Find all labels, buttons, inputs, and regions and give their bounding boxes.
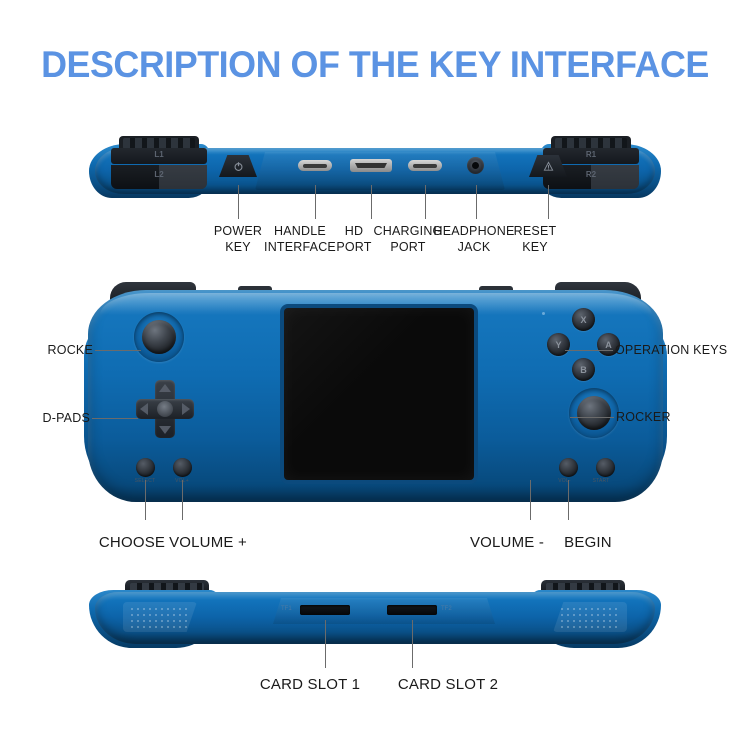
- label-handle-interface-line1: HANDLE: [274, 224, 326, 238]
- label-charging-port-line2: PORT: [390, 240, 425, 254]
- d-pad-up-icon[interactable]: [159, 384, 171, 392]
- leader-power-key: [238, 185, 239, 219]
- label-rocker-left: ROCKE: [48, 343, 93, 357]
- l1-label: L1: [154, 150, 163, 159]
- reset-icon: [543, 161, 554, 172]
- d-pad-center-hub: [157, 401, 173, 417]
- card-slot-1[interactable]: [300, 605, 350, 615]
- leader-begin: [568, 480, 569, 520]
- leader-d-pads: [92, 418, 138, 419]
- leader-rocker-right: [570, 417, 614, 418]
- bottom-edge-view: TF1 TF2: [95, 580, 655, 662]
- leader-card-slot-2: [412, 620, 413, 668]
- status-led: [542, 312, 545, 315]
- l2-label: L2: [154, 170, 163, 179]
- label-choose: CHOOSE: [99, 536, 165, 550]
- power-icon: [233, 161, 244, 172]
- leader-handle-interface: [315, 185, 316, 219]
- operation-keys-cluster[interactable]: X Y A B: [547, 308, 619, 380]
- label-card-slot-1: CARD SLOT 1: [260, 678, 360, 692]
- left-shoulder-cluster[interactable]: L1 L2: [111, 146, 207, 190]
- volume-down-button[interactable]: [559, 458, 578, 477]
- label-headphone-jack-line1: HEADPHONE: [434, 224, 515, 238]
- label-charging-port-line1: CHARGING: [374, 224, 443, 238]
- leader-choose: [145, 480, 146, 520]
- r1-label: R1: [586, 150, 596, 159]
- d-pad-left-icon[interactable]: [140, 403, 148, 415]
- left-rocker-stick[interactable]: [134, 312, 184, 362]
- d-pad[interactable]: [136, 380, 194, 438]
- leader-volume-down: [530, 480, 531, 520]
- charging-port[interactable]: [408, 160, 442, 171]
- card-slot-2[interactable]: [387, 605, 437, 615]
- leader-hd-port: [371, 185, 372, 219]
- label-card-slot-2: CARD SLOT 2: [398, 678, 498, 692]
- leader-card-slot-1: [325, 620, 326, 668]
- display-screen[interactable]: [284, 308, 474, 480]
- product-diagram: DESCRIPTION OF THE KEY INTERFACE L1 L2 R…: [0, 0, 750, 750]
- leader-reset-key: [548, 185, 549, 219]
- volume-up-button[interactable]: [173, 458, 192, 477]
- left-speaker-grille: [123, 602, 197, 632]
- start-button-label: START: [593, 478, 610, 484]
- top-edge-view: L1 L2 R1 R2: [95, 128, 655, 206]
- select-button[interactable]: [136, 458, 155, 477]
- button-y[interactable]: Y: [547, 333, 570, 356]
- r2-label: R2: [586, 170, 596, 179]
- label-handle-interface-line2: INTERFACE: [264, 240, 336, 254]
- card-slot-1-tag: TF1: [281, 606, 292, 612]
- leader-volume-up: [182, 480, 183, 520]
- start-button[interactable]: [596, 458, 615, 477]
- label-hd-port-line1: HD: [345, 224, 363, 238]
- label-hd-port-line2: PORT: [336, 240, 371, 254]
- button-x[interactable]: X: [572, 308, 595, 331]
- hd-port[interactable]: [350, 159, 392, 172]
- label-headphone-jack-line2: JACK: [458, 240, 491, 254]
- leader-charging-port: [425, 185, 426, 219]
- label-volume-up: VOLUME +: [169, 536, 247, 550]
- leader-rocker-left: [95, 350, 141, 351]
- card-slot-2-tag: TF2: [441, 606, 452, 612]
- leader-headphone-jack: [476, 185, 477, 219]
- left-shoulder-highlight: [159, 165, 207, 189]
- leader-operation-keys: [565, 350, 613, 351]
- d-pad-down-icon[interactable]: [159, 426, 171, 434]
- label-reset-key-line2: KEY: [522, 240, 548, 254]
- d-pad-right-icon[interactable]: [182, 403, 190, 415]
- headphone-jack[interactable]: [467, 157, 484, 174]
- right-speaker-mesh: [559, 606, 621, 628]
- handle-interface-port[interactable]: [298, 160, 332, 171]
- label-power-key-line2: KEY: [225, 240, 251, 254]
- button-b[interactable]: B: [572, 358, 595, 381]
- page-title: DESCRIPTION OF THE KEY INTERFACE: [11, 44, 739, 86]
- label-power-key-line1: POWER: [214, 224, 262, 238]
- label-operation-keys: OPERATION KEYS: [615, 343, 727, 357]
- label-reset-key-line1: RESET: [514, 224, 557, 238]
- right-rocker-stick[interactable]: [569, 388, 619, 438]
- right-rocker-cap: [577, 396, 611, 430]
- front-view: X Y A B SELECT VOL+ VOL- START: [88, 282, 663, 510]
- label-d-pads: D-PADS: [42, 411, 90, 425]
- right-speaker-grille: [553, 602, 627, 632]
- left-speaker-mesh: [129, 606, 191, 628]
- left-rocker-cap: [142, 320, 176, 354]
- right-shoulder-highlight: [591, 165, 639, 189]
- label-begin: BEGIN: [564, 536, 612, 550]
- label-volume-down: VOLUME -: [470, 536, 544, 550]
- label-rocker-right: ROCKER: [616, 410, 671, 424]
